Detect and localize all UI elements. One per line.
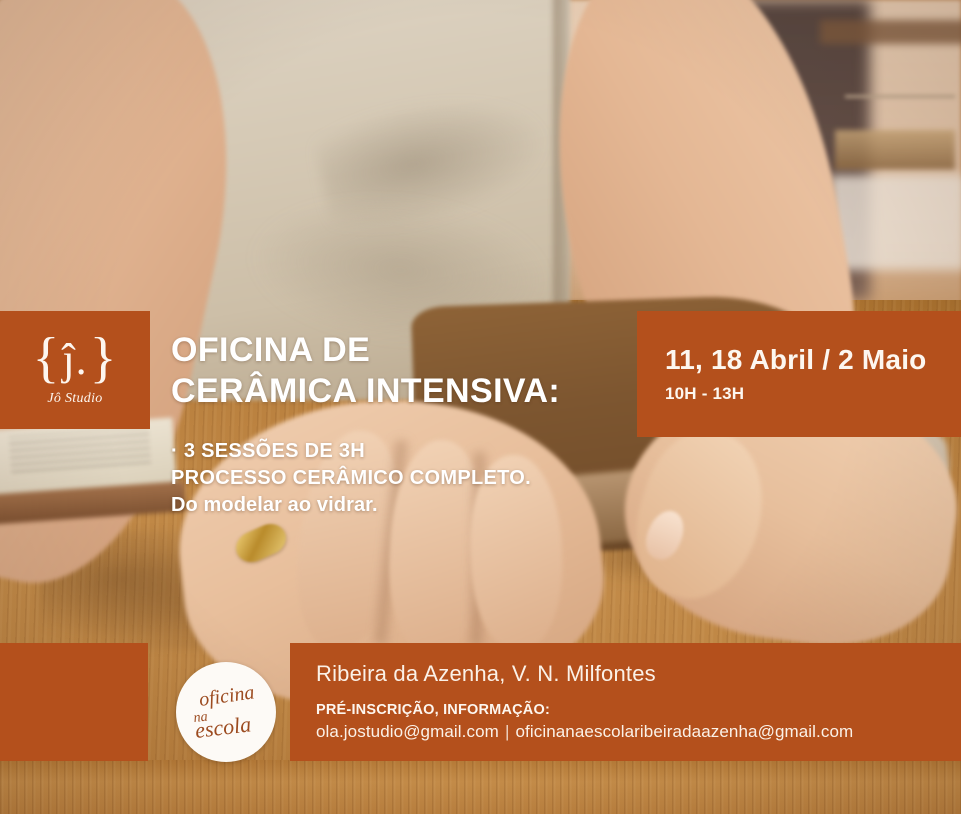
studio-logo-block: { ĵ. } Jô Studio (0, 311, 150, 429)
logo-j-glyph: ĵ. (62, 338, 87, 382)
footer-info-block: Ribeira da Azenha, V. N. Milfontes PRÉ-I… (290, 643, 961, 761)
headline-line-2: CERÂMICA INTENSIVA: (171, 371, 560, 412)
headline-line-1: OFICINA DE (171, 330, 560, 371)
studio-logo-mark: { ĵ. } (32, 333, 117, 383)
poster-canvas: { ĵ. } Jô Studio OFICINA DE CERÂMICA INT… (0, 0, 961, 814)
detail-scope: Do modelar ao vidrar. (171, 492, 531, 519)
detail-process: PROCESSO CERÂMICO COMPLETO. (171, 465, 531, 492)
studio-logo-name: Jô Studio (47, 391, 102, 407)
badge-script-logo-icon: oficina na escola (180, 666, 272, 758)
logo-left-brace-icon: { (32, 333, 60, 383)
course-details: · 3 SESSÕES DE 3H PROCESSO CERÂMICO COMP… (171, 438, 531, 518)
footer-email-primary[interactable]: ola.jostudio@gmail.com (316, 722, 499, 741)
dates-days: 11, 18 Abril / 2 Maio (665, 345, 961, 376)
footer-email-separator: | (499, 722, 516, 741)
logo-right-brace-icon: } (90, 333, 118, 383)
footer-location: Ribeira da Azenha, V. N. Milfontes (316, 661, 961, 687)
badge-word-oficina: oficina (198, 681, 256, 711)
dates-hours: 10H - 13H (665, 384, 961, 404)
footer-emails: ola.jostudio@gmail.com|oficinanaescolari… (316, 722, 961, 742)
dates-block: 11, 18 Abril / 2 Maio 10H - 13H (637, 311, 961, 437)
detail-sessions: · 3 SESSÕES DE 3H (171, 438, 531, 465)
oficina-na-escola-badge: oficina na escola (176, 662, 276, 762)
page-title: OFICINA DE CERÂMICA INTENSIVA: (171, 330, 560, 413)
footer-left-block (0, 643, 148, 761)
footer-preregistration-label: PRÉ-INSCRIÇÃO, INFORMAÇÃO: (316, 702, 961, 718)
footer-email-secondary[interactable]: oficinanaescolaribeiradaazenha@gmail.com (515, 722, 853, 741)
